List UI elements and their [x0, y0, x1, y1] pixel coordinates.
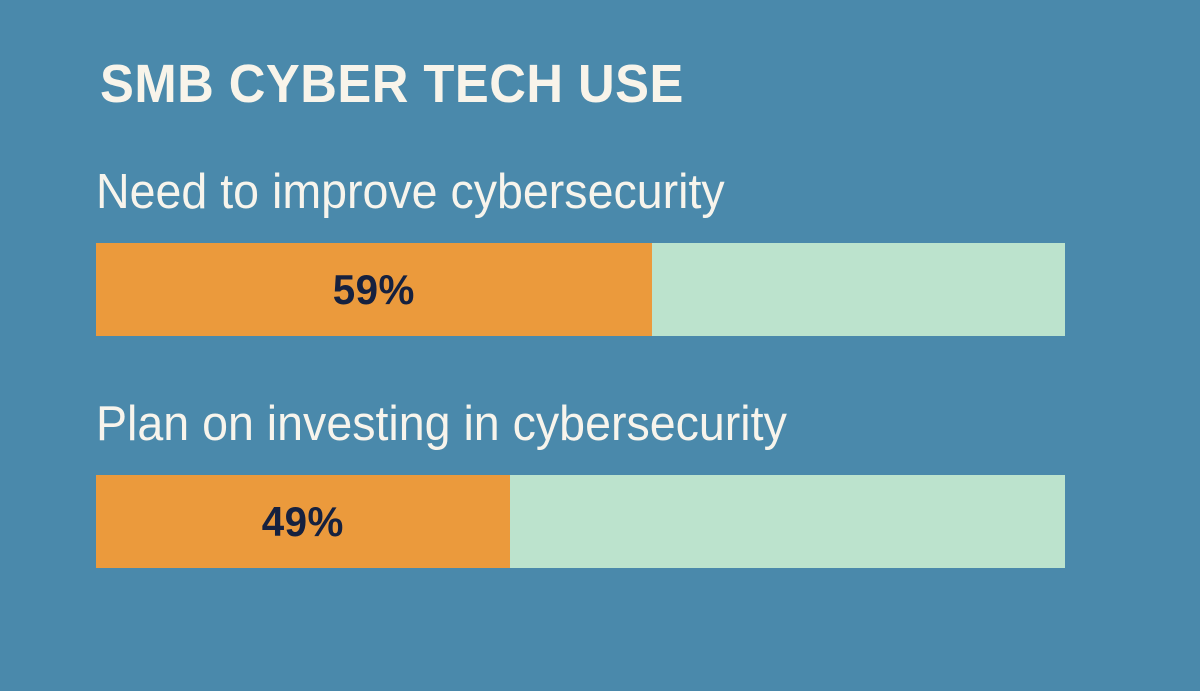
bar-value-label: 49%	[262, 498, 344, 546]
bar-label: Need to improve cybersecurity	[96, 168, 1017, 217]
bar-value-label: 59%	[333, 266, 415, 314]
infographic-chart: SMB CYBER TECH USE Need to improve cyber…	[0, 0, 1200, 691]
bar-group: Plan on investing in cybersecurity 49%	[96, 400, 1065, 568]
bar-fill: 49%	[96, 475, 510, 568]
chart-title: SMB CYBER TECH USE	[100, 56, 684, 113]
bar-track: 59%	[96, 243, 1065, 336]
bar-group: Need to improve cybersecurity 59%	[96, 168, 1065, 336]
bar-track: 49%	[96, 475, 1065, 568]
bar-label: Plan on investing in cybersecurity	[96, 400, 1017, 449]
bar-fill: 59%	[96, 243, 652, 336]
